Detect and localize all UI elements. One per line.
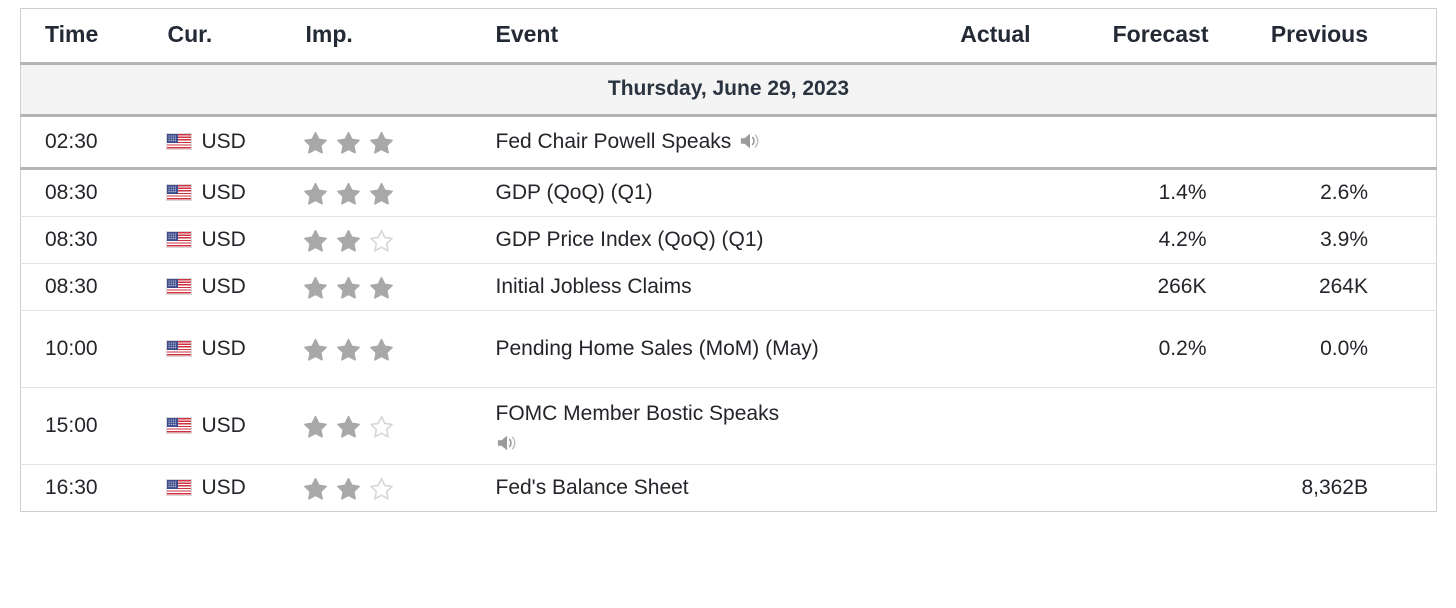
importance-stars	[303, 181, 402, 206]
event-currency: USD	[146, 388, 291, 465]
table-row[interactable]: 08:30USDGDP Price Index (QoQ) (Q1)4.2%3.…	[21, 217, 1437, 264]
currency-label: USD	[202, 414, 246, 437]
event-actual-value	[906, 388, 1031, 465]
event-previous-value: 2.6%	[1221, 169, 1437, 217]
event-name-cell[interactable]: Fed Chair Powell Speaks	[476, 116, 906, 169]
us-flag-icon	[166, 417, 192, 434]
importance-stars	[303, 337, 402, 362]
event-actual-value	[906, 311, 1031, 388]
event-name-cell[interactable]: Initial Jobless Claims	[476, 264, 906, 311]
event-currency: USD	[146, 116, 291, 169]
event-actual-value	[906, 264, 1031, 311]
importance-stars	[303, 228, 402, 253]
star-filled-icon	[303, 414, 328, 439]
event-time: 16:30	[21, 465, 146, 512]
star-filled-icon	[303, 228, 328, 253]
event-forecast-value: 266K	[1031, 264, 1221, 311]
event-importance[interactable]	[291, 465, 476, 512]
currency-label: USD	[202, 476, 246, 499]
event-currency: USD	[146, 217, 291, 264]
event-forecast-value: 1.4%	[1031, 169, 1221, 217]
event-currency: USD	[146, 264, 291, 311]
currency-label: USD	[202, 337, 246, 360]
event-actual-value	[906, 465, 1031, 512]
event-previous-value: 0.0%	[1221, 311, 1437, 388]
star-filled-icon	[303, 275, 328, 300]
star-filled-icon	[336, 337, 361, 362]
table-row[interactable]: 02:30USDFed Chair Powell Speaks	[21, 116, 1437, 169]
event-name: Pending Home Sales (MoM) (May)	[496, 337, 819, 360]
star-filled-icon	[303, 181, 328, 206]
event-forecast-value: 0.2%	[1031, 311, 1221, 388]
star-filled-icon	[369, 275, 394, 300]
star-filled-icon	[369, 337, 394, 362]
event-forecast-value	[1031, 465, 1221, 512]
star-filled-icon	[336, 181, 361, 206]
event-time: 08:30	[21, 264, 146, 311]
column-header-forecast[interactable]: Forecast	[1031, 9, 1221, 64]
event-importance[interactable]	[291, 116, 476, 169]
star-filled-icon	[303, 337, 328, 362]
currency-label: USD	[202, 228, 246, 251]
event-name-cell[interactable]: Pending Home Sales (MoM) (May)	[476, 311, 906, 388]
us-flag-icon	[166, 479, 192, 496]
us-flag-icon	[166, 133, 192, 150]
star-empty-icon	[369, 228, 394, 253]
event-name: Fed Chair Powell Speaks	[496, 130, 732, 153]
column-header-actual[interactable]: Actual	[906, 9, 1031, 64]
importance-stars	[303, 275, 402, 300]
event-time: 15:00	[21, 388, 146, 465]
event-currency: USD	[146, 311, 291, 388]
speaker-audio-icon[interactable]	[739, 131, 761, 151]
table-body: Thursday, June 29, 2023 02:30USDFed Chai…	[21, 64, 1437, 512]
event-importance[interactable]	[291, 217, 476, 264]
star-filled-icon	[303, 130, 328, 155]
table-header: Time Cur. Imp. Event Actual Forecast Pre…	[21, 9, 1437, 64]
star-filled-icon	[336, 275, 361, 300]
event-previous-value	[1221, 116, 1437, 169]
event-actual-value	[906, 116, 1031, 169]
column-header-importance[interactable]: Imp.	[291, 9, 476, 64]
event-name: Fed's Balance Sheet	[496, 476, 689, 499]
currency-label: USD	[202, 181, 246, 204]
star-filled-icon	[336, 228, 361, 253]
header-row: Time Cur. Imp. Event Actual Forecast Pre…	[21, 9, 1437, 64]
us-flag-icon	[166, 278, 192, 295]
event-name-cell[interactable]: Fed's Balance Sheet	[476, 465, 906, 512]
event-name: FOMC Member Bostic Speaks	[496, 402, 780, 425]
event-previous-value: 264K	[1221, 264, 1437, 311]
event-actual-value	[906, 217, 1031, 264]
column-header-time[interactable]: Time	[21, 9, 146, 64]
event-name: Initial Jobless Claims	[496, 275, 692, 298]
currency-label: USD	[202, 275, 246, 298]
event-forecast-value: 4.2%	[1031, 217, 1221, 264]
column-header-event[interactable]: Event	[476, 9, 906, 64]
table-row[interactable]: 10:00USDPending Home Sales (MoM) (May)0.…	[21, 311, 1437, 388]
event-name-cell[interactable]: GDP Price Index (QoQ) (Q1)	[476, 217, 906, 264]
us-flag-icon	[166, 231, 192, 248]
importance-stars	[303, 130, 402, 155]
event-name: GDP Price Index (QoQ) (Q1)	[496, 228, 764, 251]
event-importance[interactable]	[291, 388, 476, 465]
table-row[interactable]: 08:30USDInitial Jobless Claims266K264K	[21, 264, 1437, 311]
event-name-cell[interactable]: GDP (QoQ) (Q1)	[476, 169, 906, 217]
star-filled-icon	[336, 476, 361, 501]
speaker-audio-icon[interactable]	[496, 433, 518, 453]
star-empty-icon	[369, 476, 394, 501]
event-currency: USD	[146, 465, 291, 512]
event-time: 10:00	[21, 311, 146, 388]
event-previous-value: 3.9%	[1221, 217, 1437, 264]
event-name: GDP (QoQ) (Q1)	[496, 181, 653, 204]
star-filled-icon	[303, 476, 328, 501]
table-row[interactable]: 16:30USDFed's Balance Sheet8,362B	[21, 465, 1437, 512]
column-header-currency[interactable]: Cur.	[146, 9, 291, 64]
event-currency: USD	[146, 169, 291, 217]
economic-calendar: Time Cur. Imp. Event Actual Forecast Pre…	[20, 8, 1436, 512]
event-importance[interactable]	[291, 264, 476, 311]
event-time: 02:30	[21, 116, 146, 169]
column-header-previous[interactable]: Previous	[1221, 9, 1437, 64]
event-forecast-value	[1031, 388, 1221, 465]
us-flag-icon	[166, 184, 192, 201]
star-filled-icon	[336, 130, 361, 155]
importance-stars	[303, 476, 402, 501]
event-time: 08:30	[21, 169, 146, 217]
event-actual-value	[906, 169, 1031, 217]
event-name-cell[interactable]: FOMC Member Bostic Speaks	[476, 388, 906, 465]
currency-label: USD	[202, 130, 246, 153]
date-group-label: Thursday, June 29, 2023	[21, 64, 1437, 116]
event-time: 08:30	[21, 217, 146, 264]
economic-calendar-table: Time Cur. Imp. Event Actual Forecast Pre…	[20, 8, 1437, 512]
event-importance[interactable]	[291, 311, 476, 388]
event-importance[interactable]	[291, 169, 476, 217]
us-flag-icon	[166, 340, 192, 357]
event-previous-value	[1221, 388, 1437, 465]
date-group-row: Thursday, June 29, 2023	[21, 64, 1437, 116]
importance-stars	[303, 414, 402, 439]
star-filled-icon	[336, 414, 361, 439]
table-row[interactable]: 08:30USDGDP (QoQ) (Q1)1.4%2.6%	[21, 169, 1437, 217]
star-empty-icon	[369, 414, 394, 439]
table-row[interactable]: 15:00USDFOMC Member Bostic Speaks	[21, 388, 1437, 465]
star-filled-icon	[369, 181, 394, 206]
event-forecast-value	[1031, 116, 1221, 169]
event-previous-value: 8,362B	[1221, 465, 1437, 512]
star-filled-icon	[369, 130, 394, 155]
